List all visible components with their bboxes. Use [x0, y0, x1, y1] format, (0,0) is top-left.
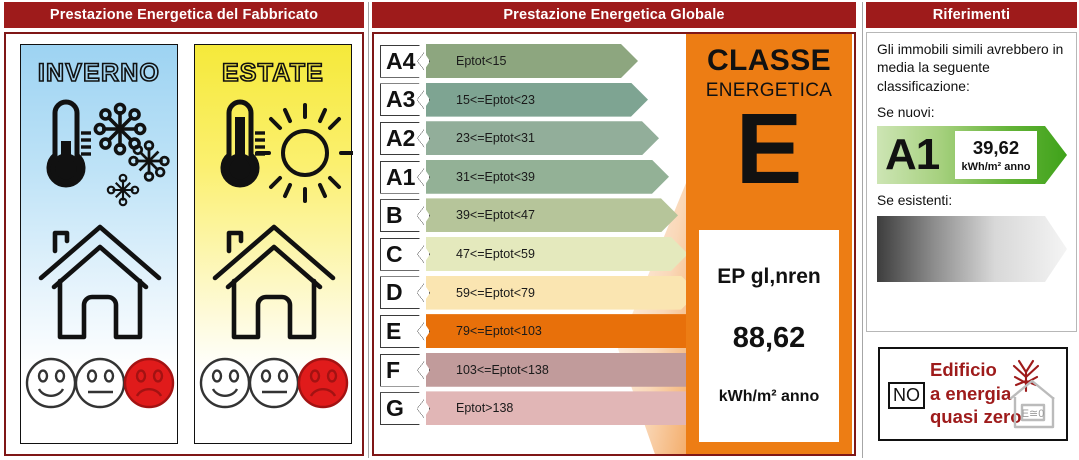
class-label-a1: A1 — [380, 161, 430, 194]
class-bar-f: 103<=Eptot<138 — [426, 353, 718, 387]
nzeb-badge: NO Edificio a energia quasi zero E≅0 — [878, 347, 1068, 441]
riferimenti-nuovi-label: Se nuovi: — [877, 105, 1066, 120]
house-outline-icon — [41, 227, 159, 337]
house-outline-icon — [215, 227, 333, 337]
globale-panel: Eptot<15 A4 15<=Eptot<23 A3 23<=Eptot<31… — [372, 32, 856, 456]
rating-faces-estate — [201, 359, 347, 407]
smiley-neutral-icon — [76, 359, 124, 407]
class-row-a2[interactable]: 23<=Eptot<31 A2 — [380, 119, 680, 158]
class-row-g[interactable]: Eptot>138 G — [380, 389, 680, 428]
house-icon — [1010, 381, 1054, 427]
class-row-f[interactable]: 103<=Eptot<138 F — [380, 351, 680, 390]
season-card-estate: ESTATE — [194, 44, 352, 444]
class-row-a1[interactable]: 31<=Eptot<39 A1 — [380, 158, 680, 197]
season-card-inverno: INVERNO — [20, 44, 178, 444]
class-row-b[interactable]: 39<=Eptot<47 B — [380, 196, 680, 235]
class-label-g: G — [380, 392, 430, 425]
class-row-a4[interactable]: Eptot<15 A4 — [380, 42, 680, 81]
class-bar-a1: 31<=Eptot<39 — [426, 160, 669, 194]
class-row-c[interactable]: 47<=Eptot<59 C — [380, 235, 680, 274]
class-label-a4: A4 — [380, 45, 430, 78]
reference-new-value-box: 39,62 kWh/m² anno — [955, 131, 1037, 179]
smiley-sad-icon — [299, 359, 347, 407]
riferimenti-panel: Gli immobili simili avrebbero in media l… — [866, 32, 1077, 332]
ep-value: 88,62 — [733, 322, 806, 355]
class-label-a2: A2 — [380, 122, 430, 155]
ep-indicator-box: EP gl,nren 88,62 kWh/m² anno — [699, 230, 839, 442]
header-globale: Prestazione Energetica Globale — [372, 2, 856, 28]
class-label-d: D — [380, 276, 430, 309]
class-label-c: C — [380, 238, 430, 271]
header-fabbricato: Prestazione Energetica del Fabbricato — [4, 2, 364, 28]
smiley-happy-icon — [27, 359, 75, 407]
classe-title: CLASSE — [686, 44, 852, 78]
season-title-estate: ESTATE — [195, 59, 351, 88]
nzeb-icon-label: E≅0 — [1022, 408, 1045, 420]
class-label-a3: A3 — [380, 83, 430, 116]
panel-divider-right — [862, 2, 863, 458]
smiley-neutral-icon — [250, 359, 298, 407]
class-bar-g: Eptot>138 — [426, 391, 728, 425]
snowflake-icon — [95, 104, 168, 205]
class-bar-d: 59<=Eptot<79 — [426, 276, 698, 310]
inverno-icons — [21, 91, 179, 441]
class-bar-e: 79<=Eptot<103 — [426, 314, 708, 348]
class-bar-a4: Eptot<15 — [426, 44, 638, 78]
reference-new-arrow: A1 39,62 kWh/m² anno — [877, 126, 1067, 184]
season-title-inverno: INVERNO — [21, 59, 177, 88]
estate-icons — [195, 91, 353, 441]
ep-name: EP gl,nren — [717, 265, 820, 289]
energy-performance-certificate: Prestazione Energetica del Fabbricato Pr… — [0, 0, 1079, 460]
class-bar-c: 47<=Eptot<59 — [426, 237, 688, 271]
class-label-b: B — [380, 199, 430, 232]
reference-new-class: A1 — [877, 133, 939, 177]
riferimenti-intro: Gli immobili simili avrebbero in media l… — [877, 41, 1066, 96]
panel-divider-left — [368, 2, 369, 458]
nzeb-house-tree-icon: E≅0 — [1000, 357, 1064, 435]
thermometer-hot-icon — [223, 102, 265, 185]
smiley-happy-icon — [201, 359, 249, 407]
classe-letter: E — [686, 94, 852, 204]
class-bar-b: 39<=Eptot<47 — [426, 198, 678, 232]
thermometer-cold-icon — [49, 102, 91, 185]
nzeb-answer: NO — [888, 382, 925, 409]
riferimenti-esistenti-label: Se esistenti: — [877, 193, 1066, 208]
energy-class-scale: Eptot<15 A4 15<=Eptot<23 A3 23<=Eptot<31… — [380, 42, 680, 428]
header-riferimenti: Riferimenti — [866, 2, 1077, 28]
reference-existing-arrow — [877, 216, 1067, 282]
ep-unit: kWh/m² anno — [719, 388, 819, 406]
reference-new-unit: kWh/m² anno — [961, 161, 1030, 173]
class-row-e[interactable]: 79<=Eptot<103 E — [380, 312, 680, 351]
rating-faces-inverno — [27, 359, 173, 407]
class-label-f: F — [380, 354, 430, 387]
class-bar-a3: 15<=Eptot<23 — [426, 83, 648, 117]
sun-icon — [257, 105, 353, 201]
fabbricato-panel: INVERNO — [4, 32, 364, 456]
class-bar-a2: 23<=Eptot<31 — [426, 121, 659, 155]
reference-new-value: 39,62 — [973, 137, 1019, 159]
class-row-d[interactable]: 59<=Eptot<79 D — [380, 274, 680, 313]
classe-energetica-panel: CLASSE ENERGETICA E EP gl,nren 88,62 kWh… — [686, 32, 852, 456]
class-row-a3[interactable]: 15<=Eptot<23 A3 — [380, 81, 680, 120]
smiley-sad-icon — [125, 359, 173, 407]
class-label-e: E — [380, 315, 430, 348]
